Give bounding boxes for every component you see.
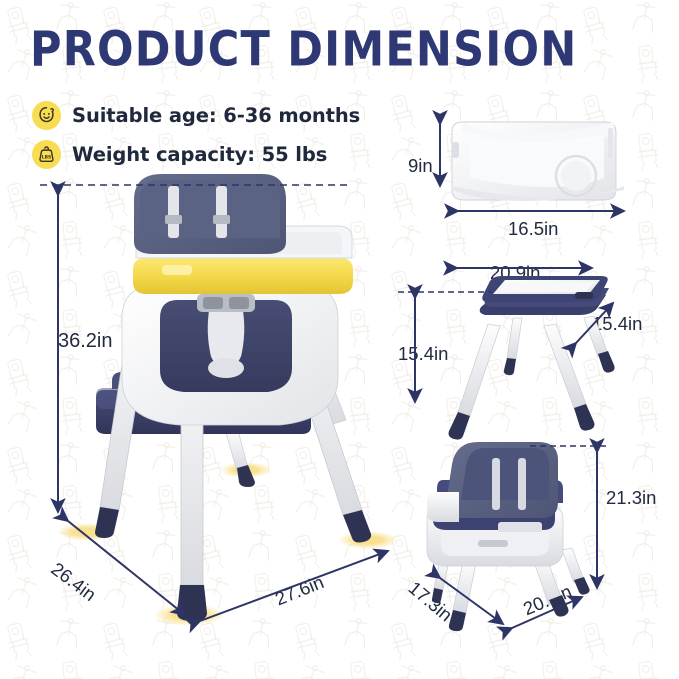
dimension-illustration-stage <box>0 0 679 679</box>
low-chair-illustration <box>427 442 610 631</box>
stool-illustration <box>398 268 615 440</box>
dimension-arrow-depth <box>68 521 185 615</box>
dimension-arrow-lowchair-width <box>512 597 582 628</box>
high-chair-illustration <box>40 174 398 626</box>
tray-illustration <box>440 122 624 211</box>
dimension-arrow-width <box>200 551 388 621</box>
